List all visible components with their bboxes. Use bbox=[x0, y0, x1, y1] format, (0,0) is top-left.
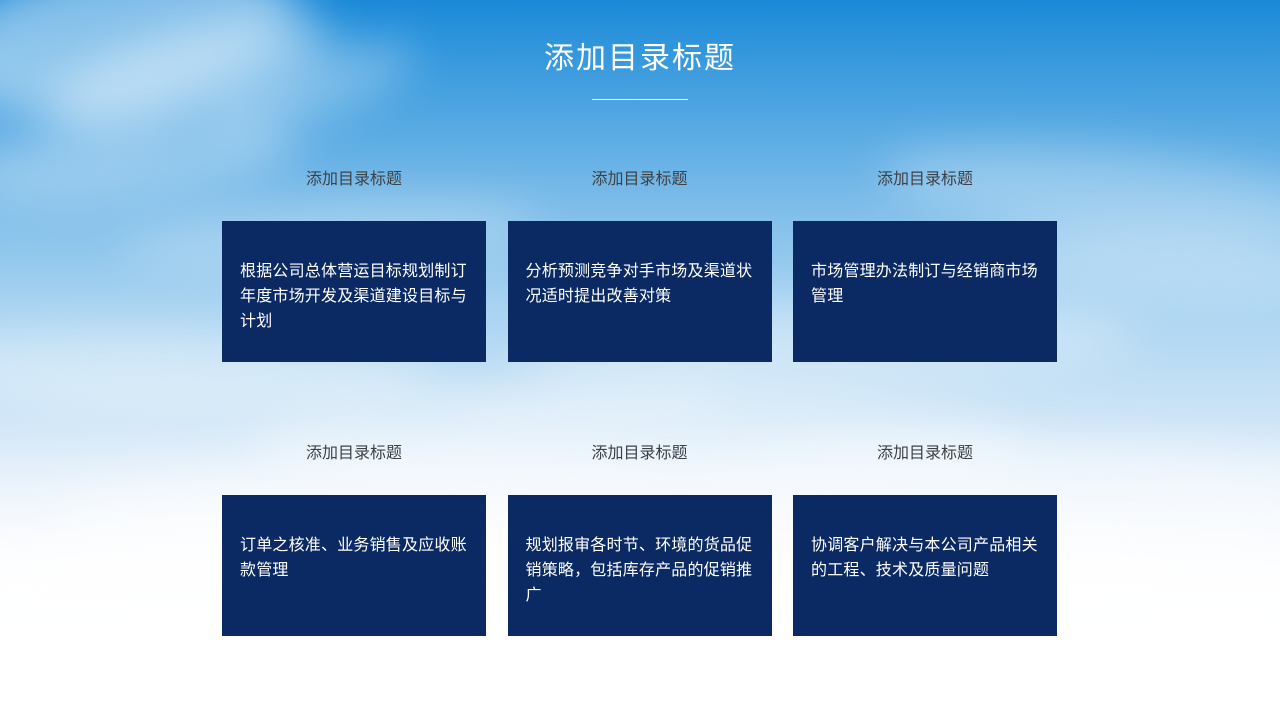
slide-canvas: 添加目录标题 添加目录标题 根据公司总体营运目标规划制订年度市场开发及渠道建设目… bbox=[0, 0, 1280, 720]
card-body-text: 订单之核准、业务销售及应收账款管理 bbox=[240, 533, 468, 583]
card-row-bottom: 添加目录标题 订单之核准、业务销售及应收账款管理 添加目录标题 规划报审各时节、… bbox=[222, 444, 1057, 636]
card-box[interactable]: 分析预测竞争对手市场及渠道状况适时提出改善对策 bbox=[508, 221, 772, 362]
card-label: 添加目录标题 bbox=[508, 170, 772, 192]
slide-header: 添加目录标题 bbox=[0, 42, 1280, 100]
content-card[interactable]: 添加目录标题 市场管理办法制订与经销商市场管理 bbox=[793, 170, 1057, 362]
card-box[interactable]: 订单之核准、业务销售及应收账款管理 bbox=[222, 495, 486, 636]
card-body-text: 协调客户解决与本公司产品相关的工程、技术及质量问题 bbox=[811, 533, 1039, 583]
content-card[interactable]: 添加目录标题 分析预测竞争对手市场及渠道状况适时提出改善对策 bbox=[508, 170, 772, 362]
card-box[interactable]: 规划报审各时节、环境的货品促销策略，包括库存产品的促销推广 bbox=[508, 495, 772, 636]
card-grid: 添加目录标题 根据公司总体营运目标规划制订年度市场开发及渠道建设目标与计划 添加… bbox=[222, 170, 1057, 636]
title-divider bbox=[592, 99, 688, 100]
content-card[interactable]: 添加目录标题 订单之核准、业务销售及应收账款管理 bbox=[222, 444, 486, 636]
content-card[interactable]: 添加目录标题 协调客户解决与本公司产品相关的工程、技术及质量问题 bbox=[793, 444, 1057, 636]
card-label: 添加目录标题 bbox=[508, 444, 772, 466]
card-label: 添加目录标题 bbox=[793, 444, 1057, 466]
card-box[interactable]: 协调客户解决与本公司产品相关的工程、技术及质量问题 bbox=[793, 495, 1057, 636]
card-body-text: 市场管理办法制订与经销商市场管理 bbox=[811, 259, 1039, 309]
card-box[interactable]: 根据公司总体营运目标规划制订年度市场开发及渠道建设目标与计划 bbox=[222, 221, 486, 362]
card-label: 添加目录标题 bbox=[793, 170, 1057, 192]
card-row-top: 添加目录标题 根据公司总体营运目标规划制订年度市场开发及渠道建设目标与计划 添加… bbox=[222, 170, 1057, 362]
card-box[interactable]: 市场管理办法制订与经销商市场管理 bbox=[793, 221, 1057, 362]
page-title: 添加目录标题 bbox=[0, 42, 1280, 77]
content-card[interactable]: 添加目录标题 根据公司总体营运目标规划制订年度市场开发及渠道建设目标与计划 bbox=[222, 170, 486, 362]
card-body-text: 规划报审各时节、环境的货品促销策略，包括库存产品的促销推广 bbox=[526, 533, 754, 608]
card-body-text: 根据公司总体营运目标规划制订年度市场开发及渠道建设目标与计划 bbox=[240, 259, 468, 334]
content-card[interactable]: 添加目录标题 规划报审各时节、环境的货品促销策略，包括库存产品的促销推广 bbox=[508, 444, 772, 636]
card-body-text: 分析预测竞争对手市场及渠道状况适时提出改善对策 bbox=[526, 259, 754, 309]
card-label: 添加目录标题 bbox=[222, 170, 486, 192]
card-label: 添加目录标题 bbox=[222, 444, 486, 466]
